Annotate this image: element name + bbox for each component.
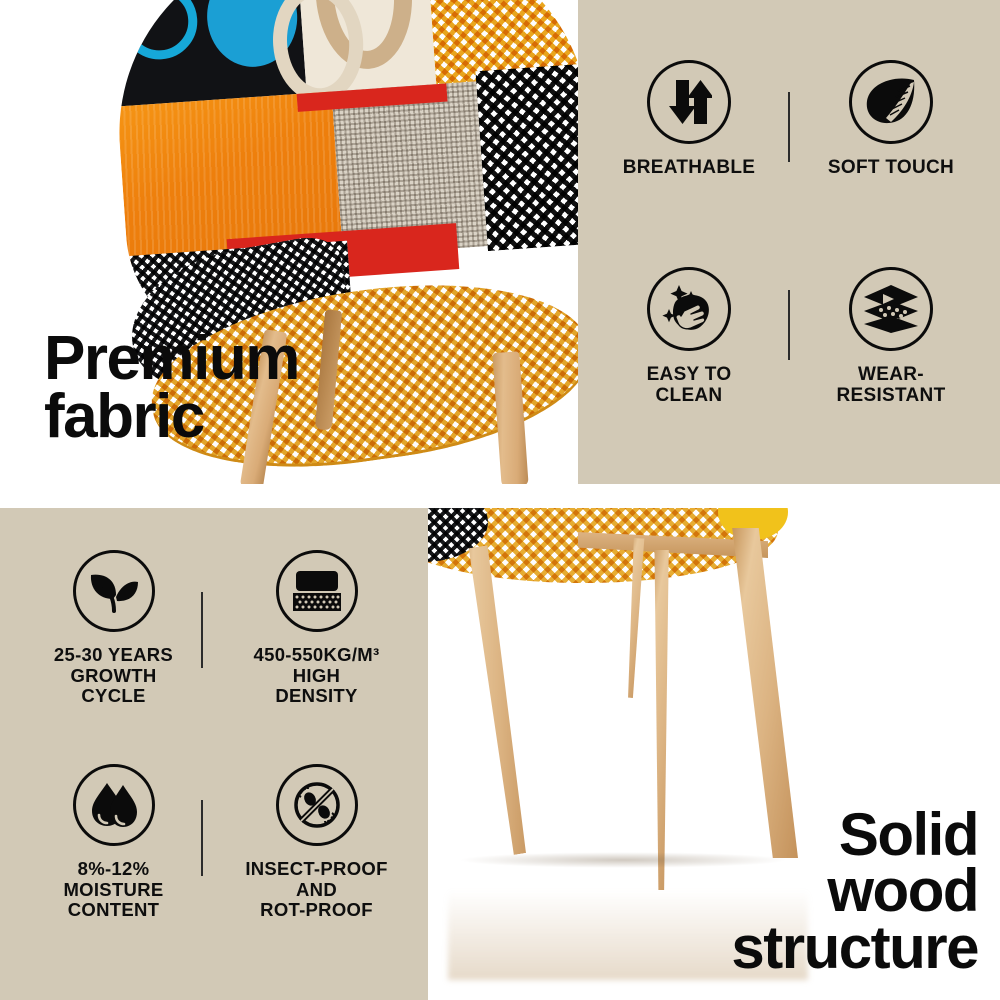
page-title-solid-wood: Solid wood structure <box>731 807 978 976</box>
feature-label: INSECT-PROOF AND ROT-PROOF <box>245 859 387 921</box>
feature-easy-to-clean[interactable]: EASY TO CLEAN <box>588 265 790 458</box>
icon-divider <box>201 592 203 668</box>
feature-moisture-content[interactable]: 8%-12% MOISTURE CONTENT <box>12 762 215 960</box>
wood-leg-center <box>648 550 674 890</box>
page-title-premium-fabric: Premium fabric <box>44 330 299 447</box>
leaf-sprout-icon <box>73 550 155 632</box>
breathable-arrows-icon <box>647 60 731 144</box>
cleaning-hand-icon <box>647 267 731 351</box>
feature-label: EASY TO CLEAN <box>647 364 732 407</box>
water-drops-icon <box>73 764 155 846</box>
feature-breathable[interactable]: BREATHABLE <box>588 58 790 251</box>
wood-feature-grid: 25-30 YEARS GROWTH CYCLE <box>12 548 418 960</box>
no-insect-icon <box>276 764 358 846</box>
feature-label: 25-30 YEARS GROWTH CYCLE <box>54 645 173 707</box>
fabric-feature-grid: BREATHABLE SOFT TOUCH <box>588 58 992 458</box>
solid-wood-photo-panel: Solid wood structure <box>428 508 1000 1000</box>
feature-label: 450-550KG/M³ HIGH DENSITY <box>254 645 380 707</box>
feature-label: BREATHABLE <box>623 157 755 178</box>
feature-label: 8%-12% MOISTURE CONTENT <box>63 859 163 921</box>
feature-growth-cycle[interactable]: 25-30 YEARS GROWTH CYCLE <box>12 548 215 746</box>
icon-divider <box>201 800 203 876</box>
feature-wear-resistant[interactable]: WEAR- RESISTANT <box>790 265 992 458</box>
premium-fabric-photo-panel: Premium fabric <box>0 0 578 484</box>
feature-soft-touch[interactable]: SOFT TOUCH <box>790 58 992 251</box>
feature-label: SOFT TOUCH <box>828 157 954 178</box>
feature-label: WEAR- RESISTANT <box>837 364 946 407</box>
icon-divider <box>788 290 790 360</box>
patch-circle-outline <box>119 0 200 62</box>
infographic-board: Premium fabric BREATHABLE <box>0 0 1000 1000</box>
icon-divider <box>788 92 790 162</box>
feature-high-density[interactable]: 450-550KG/M³ HIGH DENSITY <box>215 548 418 746</box>
density-block-icon <box>276 550 358 632</box>
patch-black-houndstooth <box>476 62 578 251</box>
feather-icon <box>849 60 933 144</box>
fabric-layers-icon <box>849 267 933 351</box>
feature-insect-rot-proof[interactable]: INSECT-PROOF AND ROT-PROOF <box>215 762 418 960</box>
wood-leg-front-left <box>454 545 536 857</box>
